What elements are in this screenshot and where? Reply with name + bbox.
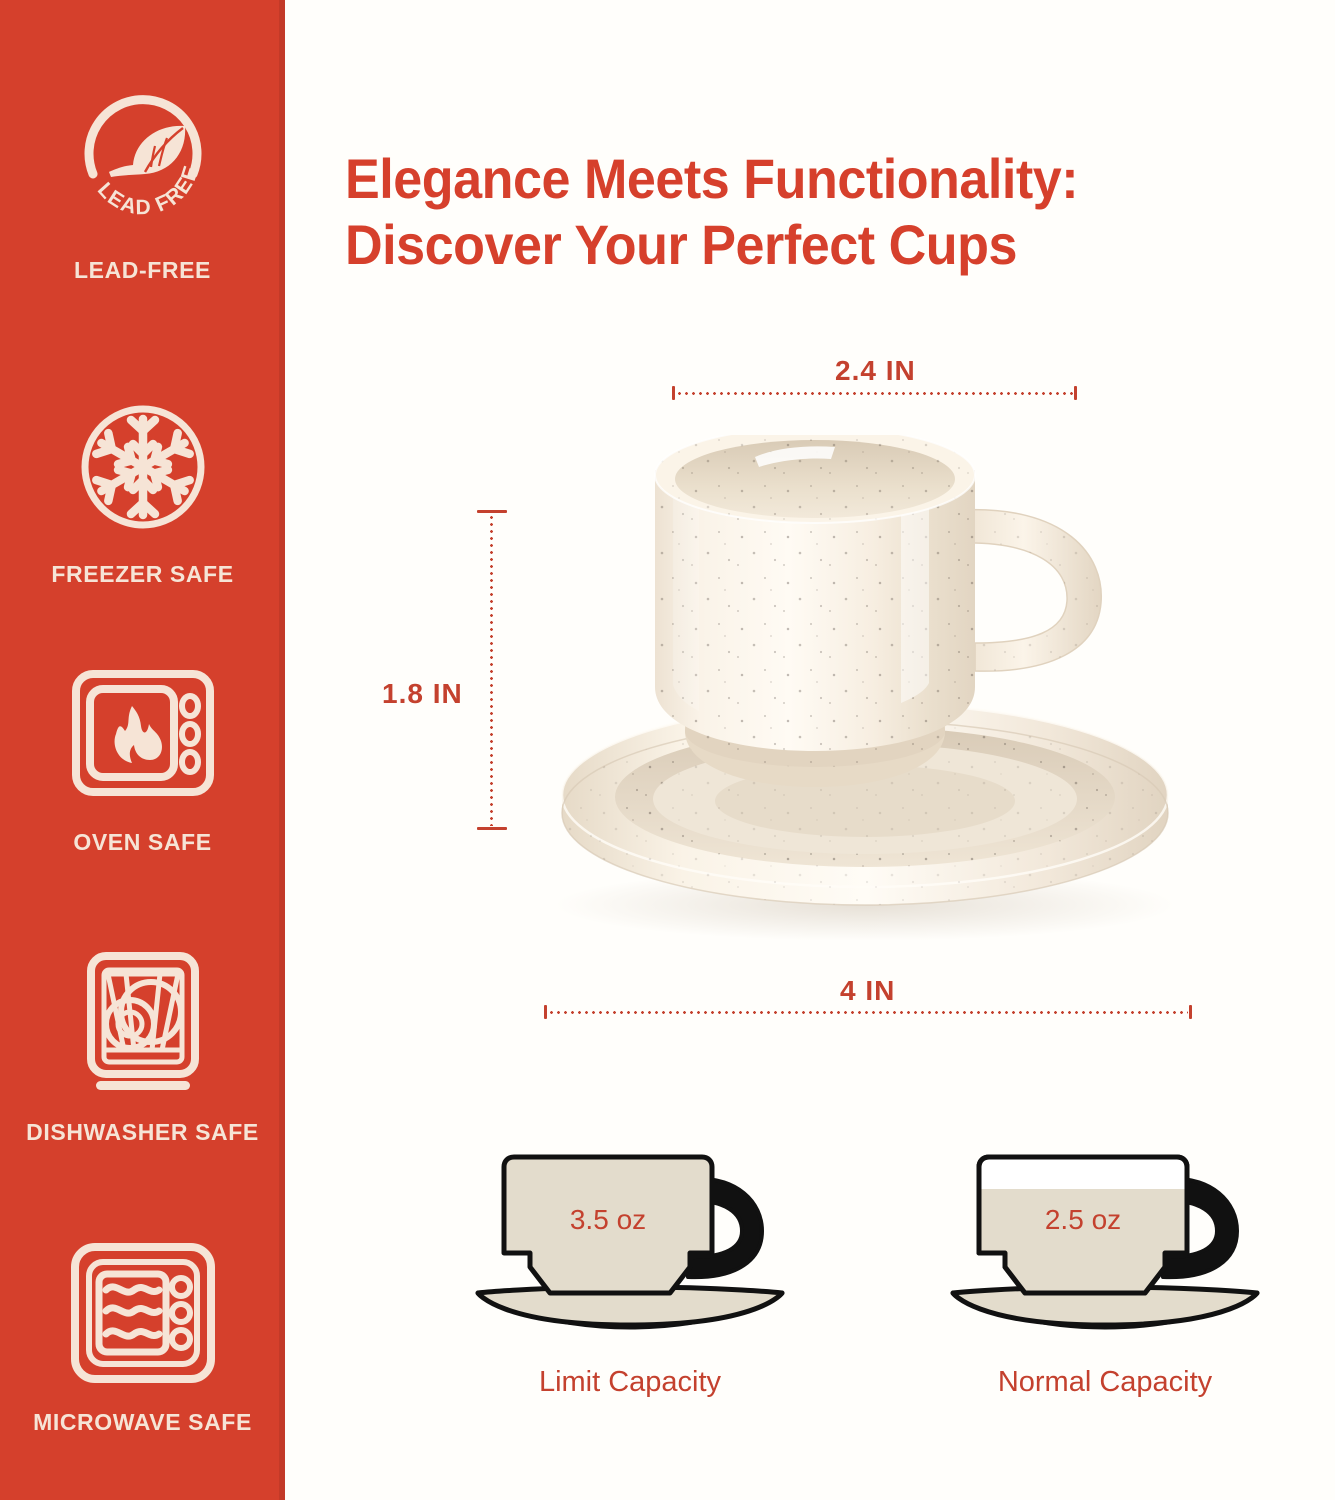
features-sidebar: LEAD FREE LEAD-FREE [0,0,285,1500]
capacity-value: 2.5 oz [1045,1204,1121,1235]
capacity-caption: Limit Capacity [430,1366,830,1399]
oven-flame-icon [68,668,218,815]
product-photo-cup-and-saucer [505,435,1245,965]
dimension-cap-bottom [477,827,507,830]
dimension-label-width-top: 2.4 IN [835,355,916,387]
badge-lead-free: LEAD FREE LEAD-FREE [0,78,285,284]
headline-line-2: Discover Your Perfect Cups [345,212,1224,278]
dimension-cap-top [477,510,507,513]
cup-capacity-icon: 3.5 oz [470,1145,790,1360]
dimension-line-width-bottom [544,1005,1192,1019]
badge-freezer-safe: FREEZER SAFE [0,392,285,588]
dimension-cap-left [672,386,675,400]
dimension-dots [676,392,1073,395]
capacity-value: 3.5 oz [570,1204,646,1235]
dimension-line-width-top [672,386,1077,400]
snowflake-icon [68,392,218,547]
badge-label: DISHWASHER SAFE [26,1119,259,1146]
dimension-label-width-bottom: 4 IN [840,975,895,1007]
cup-capacity-icon: 2.5 oz [945,1145,1265,1360]
page-title: Elegance Meets Functionality: Discover Y… [345,146,1224,278]
badge-oven-safe: OVEN SAFE [0,668,285,856]
badge-label: MICROWAVE SAFE [33,1409,252,1436]
capacity-diagram-limit: 3.5 oz Limit Capacity [430,1145,830,1399]
dimension-cap-left [544,1005,547,1019]
leaf-lead-free-icon: LEAD FREE [63,78,223,243]
badge-label: LEAD-FREE [74,257,211,284]
dimension-line-height [477,510,507,830]
badge-dishwasher-safe: DISHWASHER SAFE [0,950,285,1146]
capacity-caption: Normal Capacity [905,1366,1305,1399]
microwave-icon [68,1242,218,1395]
badge-label: FREEZER SAFE [51,561,233,588]
capacity-diagram-normal: 2.5 oz Normal Capacity [905,1145,1305,1399]
badge-label: OVEN SAFE [73,829,211,856]
badge-microwave-safe: MICROWAVE SAFE [0,1242,285,1436]
dimension-cap-right [1074,386,1077,400]
dimension-label-height: 1.8 IN [382,678,463,710]
dimension-dots [490,514,493,826]
dimension-dots [548,1011,1188,1014]
dishwasher-icon [68,950,218,1105]
headline-line-1: Elegance Meets Functionality: [345,147,1078,210]
dimension-cap-right [1189,1005,1192,1019]
